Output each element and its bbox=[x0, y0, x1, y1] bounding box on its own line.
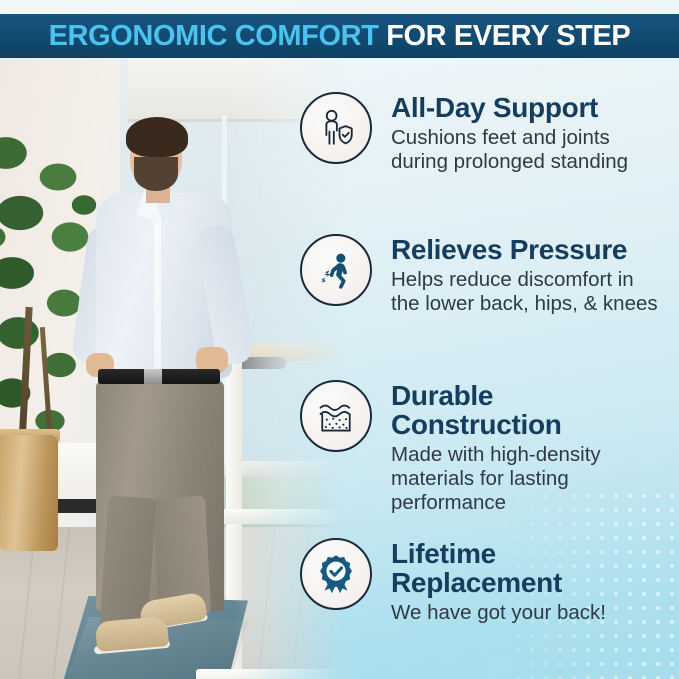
feature-text: All-Day Support Cushions feet and joints… bbox=[391, 92, 628, 174]
feature-description: Helps reduce discomfort in the lower bac… bbox=[391, 268, 658, 316]
feature-title: All-Day Support bbox=[391, 94, 628, 123]
feature-item: All-Day Support Cushions feet and joints… bbox=[300, 92, 628, 174]
foam-layers-density-icon bbox=[300, 380, 372, 452]
feature-item: Lifetime Replacement We have got your ba… bbox=[300, 538, 606, 625]
infographic-canvas: ERGONOMIC COMFORT FOR EVERY STEP All-Day… bbox=[0, 0, 679, 679]
award-badge-check-icon bbox=[300, 538, 372, 610]
feature-text: Durable Construction Made with high-dens… bbox=[391, 380, 601, 515]
headline-highlight: ERGONOMIC COMFORT bbox=[49, 20, 379, 52]
feature-text: Relieves Pressure Helps reduce discomfor… bbox=[391, 234, 658, 316]
belt-buckle bbox=[144, 369, 162, 384]
feature-title: Lifetime Replacement bbox=[391, 540, 606, 598]
headline-banner: ERGONOMIC COMFORT FOR EVERY STEP bbox=[0, 14, 679, 58]
left-shoe bbox=[95, 616, 169, 652]
feature-text: Lifetime Replacement We have got your ba… bbox=[391, 538, 606, 625]
feature-description: Made with high-density materials for las… bbox=[391, 443, 601, 515]
headline-plain: FOR EVERY STEP bbox=[386, 20, 630, 52]
feature-title: Durable Construction bbox=[391, 382, 601, 440]
desk-base-foot bbox=[196, 669, 345, 679]
hair bbox=[126, 117, 188, 157]
person-back-pain-icon bbox=[300, 234, 372, 306]
feature-description: Cushions feet and joints during prolonge… bbox=[391, 126, 628, 174]
product-lifestyle-photo bbox=[0, 57, 345, 679]
feature-description: We have got your back! bbox=[391, 601, 606, 625]
person-shield-check-icon bbox=[300, 92, 372, 164]
feature-item: Relieves Pressure Helps reduce discomfor… bbox=[300, 234, 658, 316]
plant-pot bbox=[0, 435, 58, 551]
beard bbox=[134, 157, 178, 191]
shirt-placket bbox=[154, 209, 161, 369]
headline-text: ERGONOMIC COMFORT FOR EVERY STEP bbox=[49, 20, 631, 53]
feature-item: Durable Construction Made with high-dens… bbox=[300, 380, 601, 515]
feature-title: Relieves Pressure bbox=[391, 236, 658, 265]
